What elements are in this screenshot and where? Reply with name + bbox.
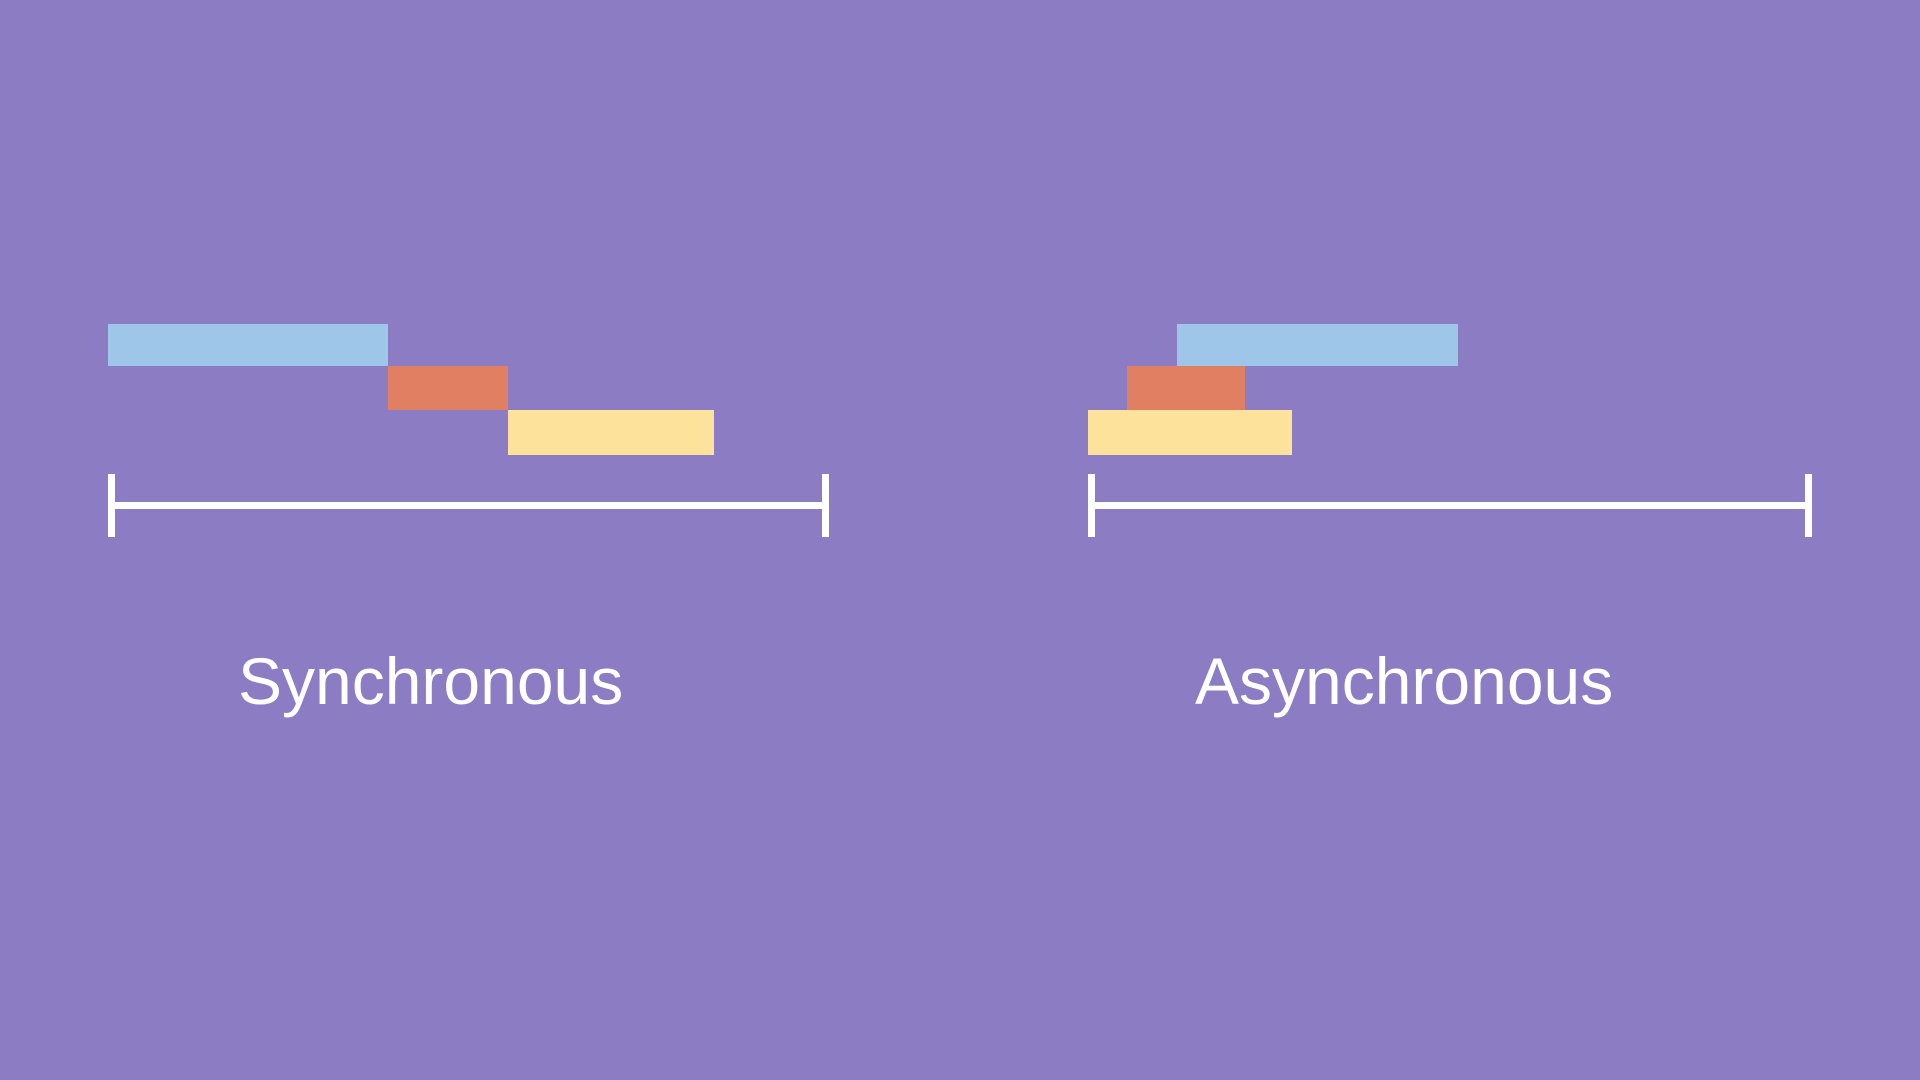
timeline-end-tick xyxy=(1805,474,1812,537)
task-bar-a xyxy=(1177,324,1458,366)
task-bar-a xyxy=(108,324,388,366)
timeline-synchronous xyxy=(108,474,829,537)
timeline-rule xyxy=(1088,502,1812,509)
panel-synchronous: Synchronous xyxy=(0,0,930,1080)
timeline-rule xyxy=(108,502,829,509)
timeline-asynchronous xyxy=(1088,474,1812,537)
task-bar-b xyxy=(388,366,508,410)
task-bar-b xyxy=(1127,366,1245,410)
timeline-end-tick xyxy=(822,474,829,537)
task-bar-c xyxy=(1088,410,1292,455)
panel-caption-asynchronous: Asynchronous xyxy=(1195,648,1613,714)
figure-canvas: Synchronous Asynchronous xyxy=(0,0,1920,1080)
panel-asynchronous: Asynchronous xyxy=(930,0,1920,1080)
task-bar-c xyxy=(508,410,714,455)
panel-caption-synchronous: Synchronous xyxy=(238,648,623,714)
